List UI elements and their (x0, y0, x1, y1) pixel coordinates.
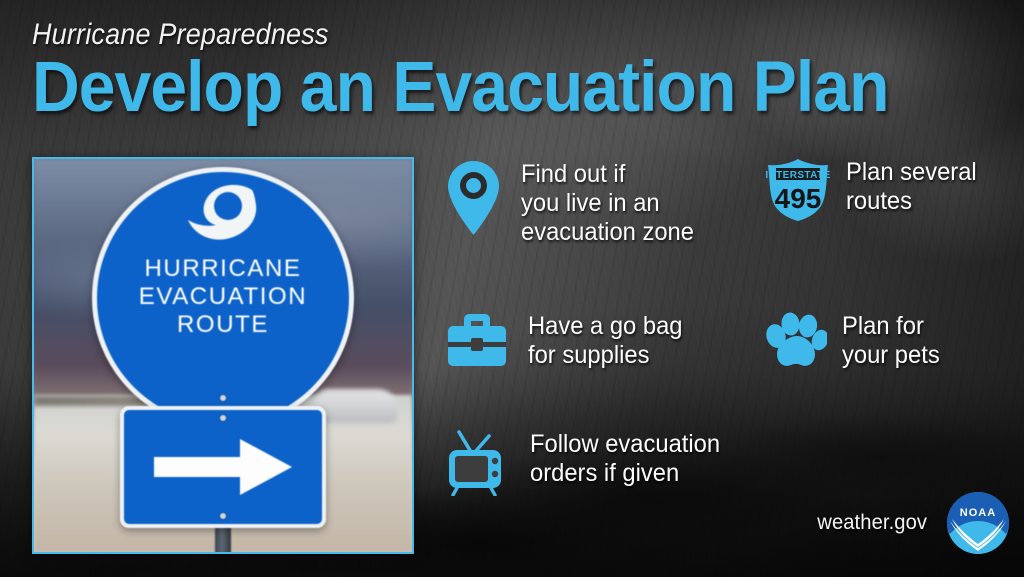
map-pin-icon (447, 160, 500, 236)
hurricane-evacuation-route-sign-photo: HURRICANE EVACUATION ROUTE (32, 157, 414, 554)
noaa-logo-text: NOAA (960, 507, 996, 519)
tip-go-bag: Have a go bag for supplies (447, 312, 691, 370)
tip-plan-routes: INTERSTATE 495 Plan several routes (765, 158, 984, 222)
header: Hurricane Preparedness Develop an Evacua… (32, 18, 953, 122)
television-icon (447, 430, 509, 496)
tip-plan-pets-label: Plan for your pets (842, 312, 940, 370)
noaa-logo[interactable]: NOAA (946, 491, 1010, 555)
photo-blur-overlay (34, 159, 412, 552)
tip-follow-orders: Follow evacuation orders if given (447, 430, 730, 496)
shield-number-text: 495 (775, 183, 822, 214)
interstate-shield-icon: INTERSTATE 495 (765, 158, 831, 222)
kicker-text: Hurricane Preparedness (32, 18, 861, 52)
tip-go-bag-label: Have a go bag for supplies (528, 312, 682, 370)
tip-plan-pets: Plan for your pets (765, 312, 945, 372)
briefcase-icon (447, 312, 507, 368)
page-title: Develop an Evacuation Plan (32, 54, 889, 122)
tip-follow-orders-label: Follow evacuation orders if given (530, 430, 720, 488)
tip-evacuation-zone: Find out if you live in an evacuation zo… (447, 160, 703, 247)
tip-evacuation-zone-label: Find out if you live in an evacuation zo… (521, 160, 694, 247)
tip-plan-routes-label: Plan several routes (846, 158, 977, 216)
footer: weather.gov NOAA (815, 491, 1010, 555)
paw-print-icon (765, 312, 827, 372)
weather-gov-label[interactable]: weather.gov (817, 511, 927, 535)
shield-banner-text: INTERSTATE (765, 170, 830, 181)
